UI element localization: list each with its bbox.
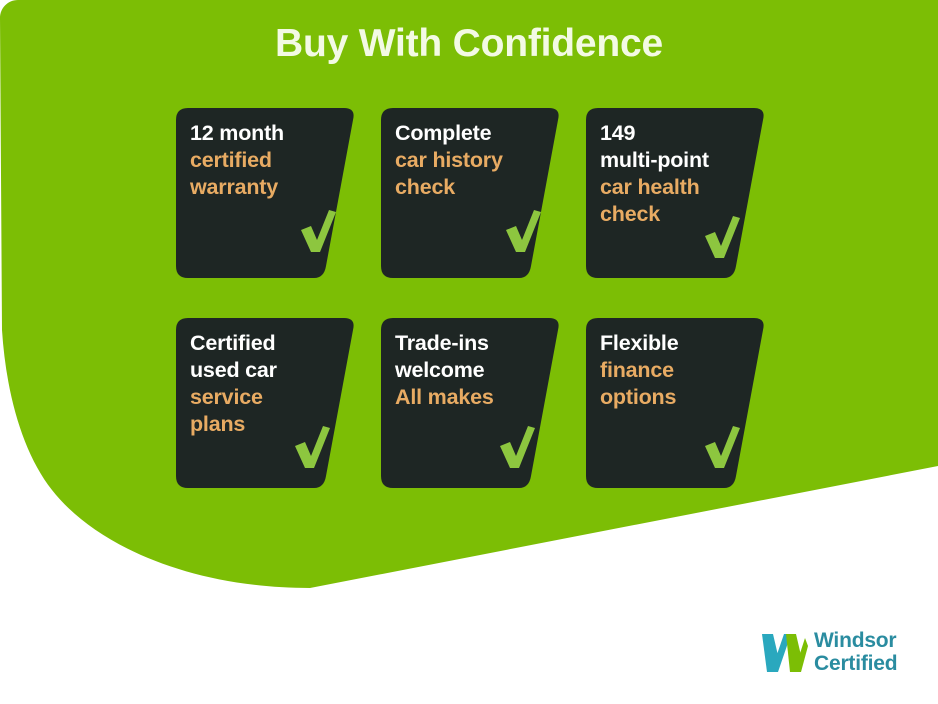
check-icon — [702, 214, 742, 260]
feature-card-service-plans[interactable]: Certified used car service plans — [176, 318, 356, 488]
card-line: service — [190, 384, 340, 411]
brand-logo[interactable]: Windsor Certified — [758, 626, 928, 682]
card-line: check — [395, 174, 545, 201]
card-line: multi-point — [600, 147, 750, 174]
feature-card-flexible-finance[interactable]: Flexible finance options — [586, 318, 766, 488]
feature-card-trade-ins-welcome[interactable]: Trade-ins welcome All makes — [381, 318, 561, 488]
brand-logo-line-2: Certified — [814, 652, 897, 675]
check-icon — [292, 424, 332, 470]
card-line: car history — [395, 147, 545, 174]
poster-canvas: Buy With Confidence 12 month certified w… — [0, 0, 938, 704]
card-line: finance — [600, 357, 750, 384]
card-text-block: 12 month certified warranty — [190, 120, 340, 201]
check-icon — [702, 424, 742, 470]
check-icon — [298, 208, 338, 254]
feature-cards-row-1: 12 month certified warranty Complete car… — [176, 108, 766, 280]
check-icon — [497, 424, 537, 470]
card-line: Complete — [395, 120, 545, 147]
page-title: Buy With Confidence — [0, 20, 938, 68]
card-line: 149 — [600, 120, 750, 147]
card-line: warranty — [190, 174, 340, 201]
windsor-w-icon — [758, 628, 810, 676]
check-icon — [503, 208, 543, 254]
feature-cards-row-2: Certified used car service plans Trade-i… — [176, 318, 766, 490]
feature-cards-grid: 12 month certified warranty Complete car… — [176, 108, 766, 490]
card-text-block: Certified used car service plans — [190, 330, 340, 438]
card-line: Trade-ins — [395, 330, 545, 357]
brand-logo-text: Windsor Certified — [814, 629, 897, 675]
card-line: Certified — [190, 330, 340, 357]
card-line: used car — [190, 357, 340, 384]
card-text-block: Complete car history check — [395, 120, 545, 201]
feature-card-multi-point-health-check[interactable]: 149 multi-point car health check — [586, 108, 766, 278]
brand-logo-line-1: Windsor — [814, 629, 897, 652]
feature-card-car-history-check[interactable]: Complete car history check — [381, 108, 561, 278]
feature-card-certified-warranty[interactable]: 12 month certified warranty — [176, 108, 356, 278]
card-text-block: Trade-ins welcome All makes — [395, 330, 545, 411]
card-line: car health — [600, 174, 750, 201]
card-line: All makes — [395, 384, 545, 411]
card-line: Flexible — [600, 330, 750, 357]
card-line: 12 month — [190, 120, 340, 147]
card-text-block: Flexible finance options — [600, 330, 750, 411]
card-line: certified — [190, 147, 340, 174]
card-text-block: 149 multi-point car health check — [600, 120, 750, 228]
card-line: welcome — [395, 357, 545, 384]
card-line: options — [600, 384, 750, 411]
